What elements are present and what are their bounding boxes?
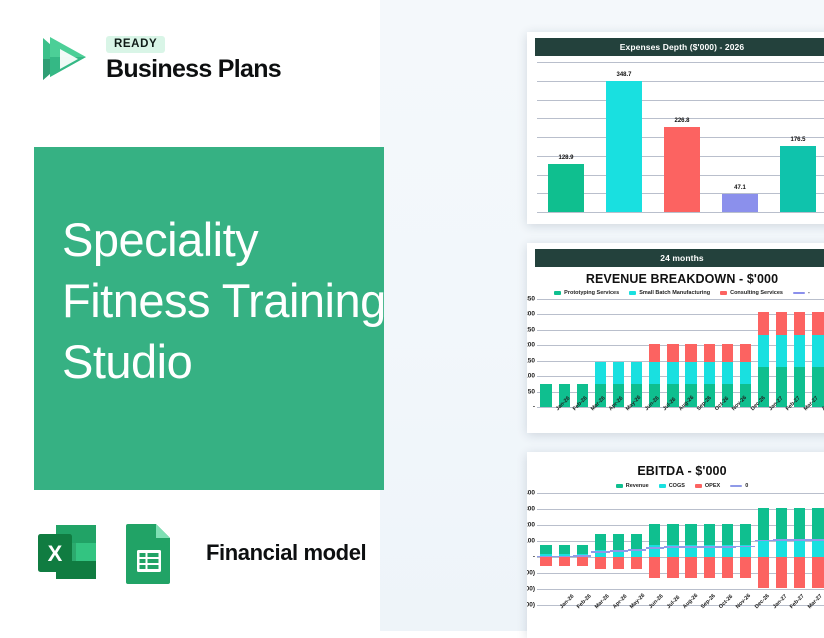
stack-segment	[704, 362, 715, 384]
stack-segment-revenue	[649, 524, 660, 545]
page-title: Speciality Fitness Training Studio	[62, 209, 392, 392]
stacked-bar	[812, 312, 823, 407]
y-axis-tick: 300	[527, 311, 535, 318]
zero-profit-line	[610, 550, 628, 552]
bar-group	[755, 493, 773, 605]
ebitda-plot-area: 400300200100-(100)(200)(300)	[537, 493, 824, 605]
stacked-bar	[794, 493, 805, 605]
bar-group	[791, 493, 809, 605]
legend-label: -	[808, 290, 810, 296]
stack-segment-opex	[667, 557, 678, 578]
legend-item: Consulting Services	[720, 290, 783, 296]
stack-segment	[649, 344, 660, 363]
stack-segment-revenue	[740, 524, 751, 545]
stack-segment-opex	[740, 557, 751, 578]
bar-group	[755, 299, 773, 407]
y-axis-tick: (200)	[527, 586, 535, 593]
legend-label: Small Batch Manufacturing	[639, 290, 710, 296]
stack-segment	[812, 312, 823, 335]
stacked-bar	[758, 312, 769, 407]
ebitda-legend: RevenueCOGSOPEX0	[527, 483, 824, 489]
stack-segment-opex	[631, 557, 642, 569]
legend-swatch-icon	[695, 484, 702, 488]
stacked-bar	[812, 493, 823, 605]
bar-group	[736, 299, 754, 407]
revenue-x-axis: Jan-26Feb-26Mar-26Apr-26May-26Jun-26Jul-…	[557, 407, 824, 413]
stacked-bar	[540, 384, 551, 407]
stack-segment-opex	[649, 557, 660, 578]
zero-profit-line	[555, 556, 573, 558]
zero-profit-line	[682, 546, 700, 548]
bar-group	[555, 493, 573, 605]
stack-segment-revenue	[577, 545, 588, 554]
zero-profit-line	[773, 539, 791, 541]
bar-group	[700, 493, 718, 605]
revenue-period-header: 24 months	[535, 249, 824, 267]
legend-item: OPEX	[695, 483, 720, 489]
legend-label: Prototyping Services	[564, 290, 619, 296]
revenue-y-axis: 35030025020015010050-	[527, 299, 537, 407]
play-triangle-logo-icon	[34, 30, 92, 88]
stack-segment-revenue	[667, 524, 678, 545]
footer-block: X Financial model	[34, 520, 366, 586]
stack-segment-cogs	[776, 540, 787, 557]
bar-group	[610, 299, 628, 407]
stacked-bar	[776, 493, 787, 605]
bar-group	[591, 299, 609, 407]
revenue-legend: Prototyping ServicesSmall Batch Manufact…	[527, 290, 824, 296]
zero-profit-line	[791, 539, 809, 541]
bar-group	[537, 299, 555, 407]
bar-group: 47.1	[711, 62, 769, 212]
zero-profit-line	[809, 539, 824, 541]
bars-container: 128.9348.7226.847.1176.5	[537, 62, 824, 212]
stacked-bar	[722, 493, 733, 605]
expenses-chart-title: Expenses Depth ($'000) - 2026	[535, 38, 824, 56]
stack-segment-revenue	[595, 534, 606, 550]
bar: 348.7	[606, 81, 642, 212]
bar-value-label: 348.7	[616, 72, 631, 78]
stack-segment-opex	[758, 557, 769, 588]
legend-item: Revenue	[616, 483, 649, 489]
stack-segment-cogs	[758, 540, 769, 557]
brand-name: Business Plans	[106, 56, 281, 82]
brand-text: READY Business Plans	[106, 36, 281, 82]
stack-segment	[758, 312, 769, 335]
stack-segment-opex	[722, 557, 733, 578]
ebitda-chart-title: EBITDA - $'000	[527, 464, 824, 478]
chart-card-ebitda: EBITDA - $'000 RevenueCOGSOPEX0 40030020…	[527, 452, 824, 638]
legend-item: -	[793, 290, 810, 296]
bar-group: 226.8	[653, 62, 711, 212]
bars-container	[537, 299, 824, 407]
legend-label: 0	[745, 483, 748, 489]
stack-segment	[794, 312, 805, 335]
bar-group	[555, 299, 573, 407]
legend-swatch-icon	[554, 291, 561, 295]
zero-profit-line	[755, 540, 773, 542]
y-axis-tick: (300)	[527, 602, 535, 609]
bar-group	[682, 493, 700, 605]
ready-badge: READY	[106, 36, 165, 53]
y-axis-tick: (100)	[527, 570, 535, 577]
stack-segment-revenue	[613, 534, 624, 550]
stacked-bar	[776, 312, 787, 407]
zero-profit-line	[628, 549, 646, 551]
stack-segment-opex	[776, 557, 787, 588]
stack-segment	[685, 362, 696, 384]
stack-segment-opex	[595, 557, 606, 569]
zero-profit-line	[718, 546, 736, 548]
bar-value-label: 128.9	[558, 155, 573, 161]
bar-group: 348.7	[595, 62, 653, 212]
legend-swatch-icon	[730, 485, 742, 487]
stack-segment	[613, 362, 624, 384]
bar: 47.1	[722, 194, 758, 212]
brand-block: READY Business Plans	[34, 30, 281, 88]
stack-segment	[812, 335, 823, 367]
zero-profit-line	[736, 546, 754, 548]
legend-label: COGS	[669, 483, 685, 489]
legend-item: Small Batch Manufacturing	[629, 290, 710, 296]
stacked-bar	[613, 493, 624, 605]
bar-group	[537, 493, 555, 605]
legend-label: Revenue	[626, 483, 649, 489]
stack-segment-opex	[685, 557, 696, 578]
y-axis-tick: 350	[527, 296, 535, 303]
y-axis-tick: 300	[527, 506, 535, 513]
zero-profit-line	[591, 551, 609, 553]
stack-segment-revenue	[631, 534, 642, 550]
ebitda-y-axis: 400300200100-(100)(200)(300)	[527, 493, 537, 605]
expenses-plot-area: 128.9348.7226.847.1176.5	[537, 62, 824, 212]
stack-segment-opex	[794, 557, 805, 588]
stack-segment-revenue	[794, 508, 805, 540]
stack-segment-opex	[559, 557, 570, 566]
stack-segment-revenue	[540, 545, 551, 554]
y-axis-tick: 50	[528, 388, 535, 395]
stack-segment-revenue	[559, 545, 570, 554]
stack-segment-opex	[704, 557, 715, 578]
bar-group: 128.9	[537, 62, 595, 212]
bar-group	[628, 493, 646, 605]
stacked-bar	[758, 493, 769, 605]
legend-swatch-icon	[629, 291, 636, 295]
stacked-bar	[794, 312, 805, 407]
stack-segment	[667, 344, 678, 363]
stack-segment	[704, 344, 715, 363]
microsoft-excel-icon: X	[34, 520, 100, 586]
legend-swatch-icon	[720, 291, 727, 295]
bar-group: 176.5	[769, 62, 824, 212]
bar-group	[610, 493, 628, 605]
legend-item: Prototyping Services	[554, 290, 619, 296]
bar-group	[628, 299, 646, 407]
stacked-bar	[740, 493, 751, 605]
bar-group	[773, 493, 791, 605]
ebitda-x-axis: Jan-26Feb-26Mar-26Apr-26May-26Jun-26Jul-…	[561, 605, 824, 611]
stacked-bar	[649, 493, 660, 605]
zero-profit-line	[537, 556, 555, 558]
zero-profit-line	[700, 546, 718, 548]
legend-item: 0	[730, 483, 748, 489]
stack-segment	[776, 335, 787, 367]
bar-value-label: 47.1	[734, 185, 746, 191]
grid-line	[537, 212, 824, 213]
bar-group	[773, 299, 791, 407]
y-axis-tick: 200	[527, 342, 535, 349]
bar-group	[573, 299, 591, 407]
legend-swatch-icon	[659, 484, 666, 488]
stack-segment	[631, 362, 642, 384]
stack-segment-revenue	[685, 524, 696, 545]
stack-segment-opex	[577, 557, 588, 566]
bar-group	[700, 299, 718, 407]
stack-segment	[794, 335, 805, 367]
stack-segment-cogs	[812, 540, 823, 557]
stacked-bar	[595, 493, 606, 605]
y-axis-tick: -	[533, 554, 535, 561]
bar-group	[809, 493, 824, 605]
stack-segment	[740, 362, 751, 384]
stack-segment	[685, 344, 696, 363]
stack-segment-opex	[812, 557, 823, 588]
bar-group	[718, 299, 736, 407]
legend-item: COGS	[659, 483, 685, 489]
stack-segment	[776, 312, 787, 335]
bar-group	[646, 299, 664, 407]
y-axis-tick: 100	[527, 373, 535, 380]
bar-group	[646, 493, 664, 605]
stacked-bar	[559, 493, 570, 605]
hero-green-band: Speciality Fitness Training Studio	[34, 147, 384, 490]
stack-segment-revenue	[758, 508, 769, 540]
bar-group	[791, 299, 809, 407]
bar-value-label: 176.5	[790, 137, 805, 143]
y-axis-tick: 150	[527, 357, 535, 364]
stacked-bar	[685, 493, 696, 605]
bars-container	[537, 493, 824, 605]
bar-group	[736, 493, 754, 605]
legend-label: Consulting Services	[730, 290, 783, 296]
google-sheets-icon	[118, 520, 180, 586]
bar-group	[664, 493, 682, 605]
stack-segment-cogs	[794, 540, 805, 557]
stack-segment	[540, 384, 551, 407]
bar-value-label: 226.8	[674, 118, 689, 124]
stack-segment	[722, 344, 733, 363]
stack-segment	[595, 362, 606, 384]
bar: 176.5	[780, 146, 816, 212]
y-axis-tick: 400	[527, 490, 535, 497]
y-axis-tick: 100	[527, 538, 535, 545]
bar-group	[718, 493, 736, 605]
stacked-bar	[667, 493, 678, 605]
bar: 128.9	[548, 164, 584, 212]
revenue-chart-title: REVENUE BREAKDOWN - $'000	[527, 272, 824, 286]
bar-group	[809, 299, 824, 407]
chart-card-revenue: 24 months REVENUE BREAKDOWN - $'000 Prot…	[527, 243, 824, 433]
bar-group	[682, 299, 700, 407]
chart-card-expenses: Expenses Depth ($'000) - 2026 128.9348.7…	[527, 32, 824, 224]
zero-profit-line	[646, 547, 664, 549]
y-axis-tick: 250	[527, 326, 535, 333]
bar-group	[573, 493, 591, 605]
stack-segment	[722, 362, 733, 384]
stack-segment-revenue	[704, 524, 715, 545]
bar-group	[591, 493, 609, 605]
stack-segment-opex	[540, 557, 551, 566]
stacked-bar	[540, 493, 551, 605]
legend-swatch-icon	[793, 292, 805, 294]
stack-segment-revenue	[722, 524, 733, 545]
stack-segment-opex	[613, 557, 624, 569]
stack-segment	[740, 344, 751, 363]
y-axis-tick: 200	[527, 522, 535, 529]
stack-segment	[758, 335, 769, 367]
stack-segment	[649, 362, 660, 384]
bar-group	[664, 299, 682, 407]
financial-model-label: Financial model	[206, 540, 366, 566]
revenue-plot-area: 35030025020015010050-	[537, 299, 824, 407]
zero-profit-line	[573, 555, 591, 557]
svg-text:X: X	[48, 541, 63, 566]
stacked-bar	[704, 493, 715, 605]
y-axis-tick: -	[533, 404, 535, 411]
legend-label: OPEX	[705, 483, 720, 489]
stack-segment-revenue	[812, 508, 823, 540]
legend-swatch-icon	[616, 484, 623, 488]
zero-profit-line	[664, 546, 682, 548]
stack-segment	[667, 362, 678, 384]
bar: 226.8	[664, 127, 700, 212]
stack-segment-revenue	[776, 508, 787, 540]
stacked-bar	[577, 493, 588, 605]
